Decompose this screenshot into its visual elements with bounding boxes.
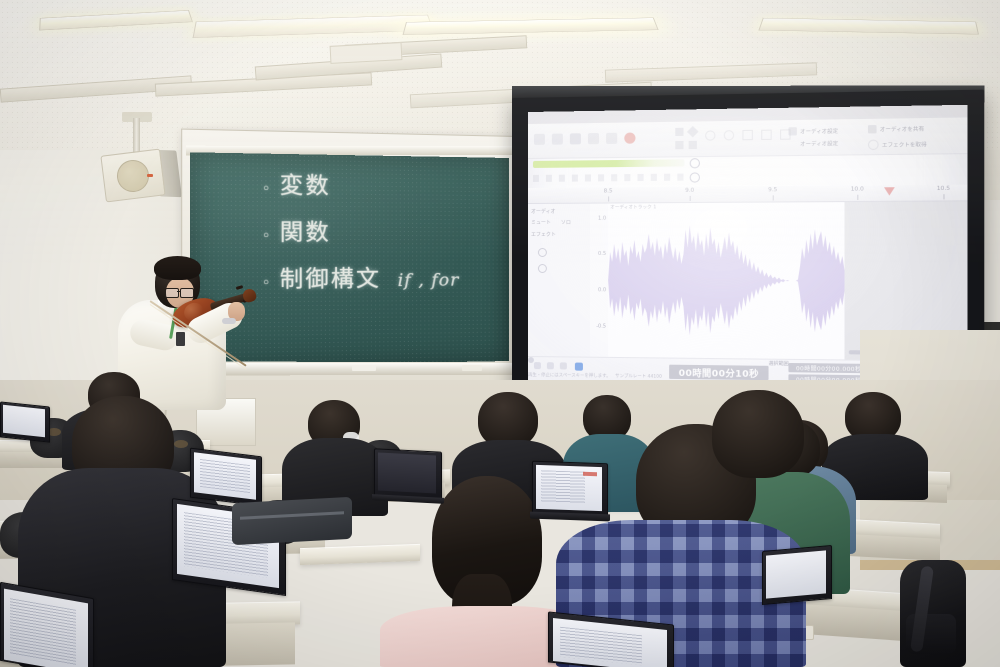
ruler-tick-label: 8.5 <box>604 188 613 194</box>
laptop-content <box>541 470 585 504</box>
ruler-tick-label: 10.0 <box>851 186 864 192</box>
id-badge <box>176 332 185 346</box>
laptop-bag <box>232 497 352 545</box>
blackboard-term-control-flow: 制御構文 <box>280 261 381 295</box>
playback-meter[interactable] <box>533 174 685 182</box>
audacity-toolbar: オーディオ設定 オーディオ設定 オーディオを共有 エフェクトを取得 <box>528 117 967 159</box>
eyeglasses-left-lens <box>165 288 179 298</box>
desk-row <box>300 544 420 565</box>
clip-title: オーディオトラック 1 <box>610 204 656 210</box>
instructor-hair <box>154 256 201 280</box>
blackboard-line-3: ◦ 制御構文 if , for <box>262 260 520 294</box>
get-effects-icon[interactable] <box>868 140 879 151</box>
wristwatch <box>222 318 236 324</box>
laptop-display <box>378 452 436 493</box>
ceiling-speaker-grille <box>330 42 403 64</box>
snap-indicator[interactable] <box>528 357 534 363</box>
share-audio-label: オーディオを共有 <box>880 125 924 133</box>
fit-selection-icon[interactable] <box>742 130 752 140</box>
chalk-piece <box>462 365 482 371</box>
audio-setup-label: オーディオ設定 <box>800 127 838 135</box>
track-control-panel[interactable]: オーディオ ミュート ソロ エフェクト <box>528 204 591 357</box>
blackboard-term-variables: 変数 <box>280 167 331 201</box>
multi-tool-icon[interactable] <box>689 141 697 149</box>
selection-range-label: 選択範囲 <box>769 360 789 367</box>
audio-setup-icon[interactable] <box>788 127 796 135</box>
get-effects-label: エフェクトを取得 <box>882 140 927 148</box>
laptop-content <box>200 459 250 493</box>
mute-label[interactable]: ミュート <box>531 219 551 226</box>
laptop-content <box>10 598 76 666</box>
envelope-tool-icon[interactable] <box>687 126 699 138</box>
bullet-icon: ◦ <box>262 182 272 198</box>
selection-tool-active-icon[interactable] <box>575 363 583 371</box>
skip-end-button[interactable] <box>606 133 617 144</box>
pause-button[interactable] <box>534 134 545 145</box>
audio-setup-sub-label: オーディオ設定 <box>800 140 838 148</box>
status-hint: 再生・停止にはスペースキーを押します。 <box>528 373 611 379</box>
speaker-led <box>147 174 153 177</box>
blackboard-term-functions: 関数 <box>280 214 331 247</box>
blackboard-keywords: if , for <box>398 270 460 291</box>
snap-toggle-icon[interactable] <box>534 362 541 369</box>
bullet-icon: ◦ <box>262 276 272 292</box>
share-audio-icon[interactable] <box>868 125 877 133</box>
solo-label[interactable]: ソロ <box>561 219 571 226</box>
draw-tool-icon[interactable] <box>675 141 683 149</box>
laptop-base <box>530 512 610 522</box>
fit-project-icon[interactable] <box>761 130 771 140</box>
lecture-hall-photo: ◦ 変数 ◦ 関数 ◦ 制御構文 if , for <box>0 0 1000 667</box>
amplitude-label: 0.0 <box>598 287 606 293</box>
sample-rate-label: サンプルレート 44100 <box>615 374 662 380</box>
stop-button[interactable] <box>570 133 581 144</box>
skip-start-button[interactable] <box>588 133 599 144</box>
amplitude-label: 1.0 <box>598 216 606 222</box>
audio-clip[interactable] <box>608 202 844 359</box>
laptop-display <box>766 550 826 598</box>
ruler-tick-label: 10.5 <box>937 186 950 192</box>
meter-reset-icon[interactable] <box>690 172 700 182</box>
record-button[interactable] <box>624 133 635 144</box>
laptop-display <box>3 405 45 437</box>
recording-meter[interactable] <box>533 159 685 168</box>
time-display[interactable]: 00時間00分10秒 <box>669 365 768 381</box>
selection-start-time[interactable]: 00時間00分00.000秒 <box>788 363 869 373</box>
student-head <box>712 390 804 478</box>
blackboard-line-1: ◦ 変数 <box>262 167 520 202</box>
amplitude-scale: 1.0 0.5 0.0 -0.5 <box>590 204 609 357</box>
eyeglasses-bridge <box>177 291 180 292</box>
zoom-out-icon[interactable] <box>724 130 734 140</box>
play-button[interactable] <box>552 134 563 145</box>
loop-icon[interactable] <box>547 362 554 369</box>
gain-slider-knob[interactable] <box>538 248 547 257</box>
track-name-label: オーディオ <box>531 208 556 215</box>
chalk-eraser <box>352 365 376 371</box>
amplitude-label: -0.5 <box>596 323 606 329</box>
ruler-tick-label: 9.5 <box>768 187 777 193</box>
bullet-icon: ◦ <box>262 229 272 245</box>
playhead-marker[interactable] <box>884 187 895 195</box>
pan-slider-knob[interactable] <box>538 264 547 273</box>
eyeglasses-right-lens <box>180 288 194 298</box>
amplitude-label: 0.5 <box>598 251 606 257</box>
trim-icon[interactable] <box>560 362 567 369</box>
blackboard-line-2: ◦ 関数 <box>262 214 520 247</box>
waveform <box>608 202 844 359</box>
blackboard-notes: ◦ 変数 ◦ 関数 ◦ 制御構文 if , for <box>262 167 520 308</box>
laptop-accent <box>583 472 597 476</box>
zoom-in-icon[interactable] <box>705 130 715 140</box>
selection-tool-icon[interactable] <box>675 128 683 136</box>
effects-label[interactable]: エフェクト <box>531 231 556 238</box>
ruler-tick-label: 9.0 <box>685 188 694 194</box>
meter-loop-icon[interactable] <box>690 158 700 168</box>
